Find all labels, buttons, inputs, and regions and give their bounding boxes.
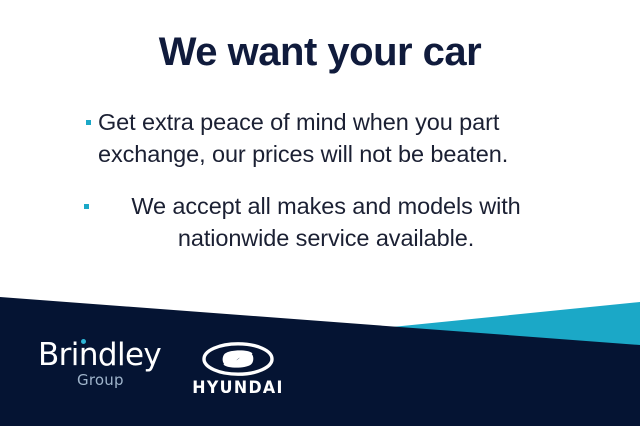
bullet-text-1: Get extra peace of mind when you part ex… [98,106,558,171]
brindley-subtitle: Group [77,373,158,388]
brindley-group-logo: Brindley Group [38,340,158,388]
brindley-i-dot-icon [81,339,86,344]
logo-row: Brindley Group HYUNDAI [38,340,292,397]
bullet-marker-icon [86,120,91,125]
hyundai-wordmark: HYUNDAI [186,380,290,397]
brindley-wordmark: Brindley [38,340,158,371]
promo-banner: We want your car Get extra peace of mind… [0,0,640,426]
bullet-marker-icon [84,204,89,209]
hyundai-logo: HYUNDAI [184,342,292,397]
bullet-item-1: Get extra peace of mind when you part ex… [0,106,640,171]
hyundai-oval-h-icon [202,342,274,376]
bullet-item-2: We accept all makes and models with nati… [0,190,640,255]
bullet-text-2: We accept all makes and models with nati… [96,190,556,255]
page-title: We want your car [0,30,640,74]
